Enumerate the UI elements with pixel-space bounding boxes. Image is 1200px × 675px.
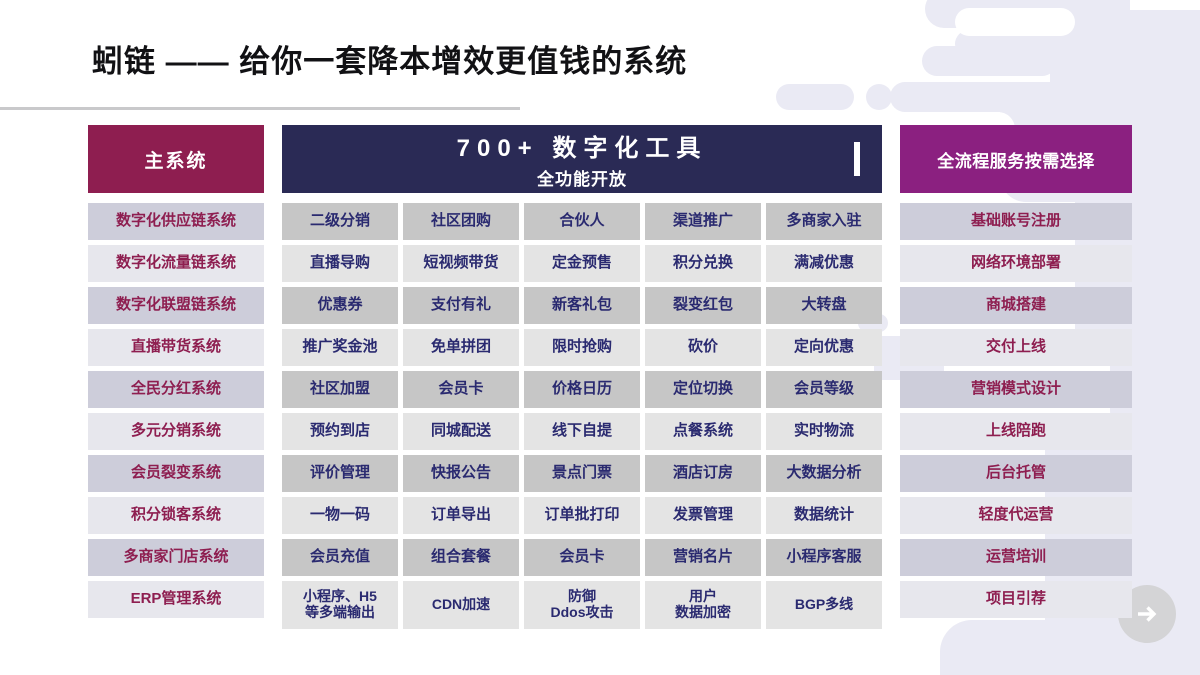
- tool-cell-cdn[interactable]: CDN加速: [403, 581, 519, 629]
- deco-dot: [866, 84, 892, 110]
- deco-shape-bottom-right-3: [1120, 430, 1200, 490]
- tool-cell[interactable]: 景点门票: [524, 455, 640, 492]
- service-item-mall-build[interactable]: 商城搭建: [900, 287, 1132, 324]
- tool-cell-encryption[interactable]: 用户 数据加密: [645, 581, 761, 629]
- tool-cell[interactable]: 订单批打印: [524, 497, 640, 534]
- slide-root: 蚓链 —— 给你一套降本增效更值钱的系统 主系统 数字化供应链系统 数字化流量链…: [0, 0, 1200, 675]
- center-header-accent-bar: [854, 142, 860, 176]
- deco-shape-top-right-3: [955, 30, 1200, 58]
- tool-cell[interactable]: 限时抢购: [524, 329, 640, 366]
- tool-cell[interactable]: 会员充值: [282, 539, 398, 576]
- deco-knockout-1: [955, 8, 1075, 36]
- tool-cell[interactable]: 预约到店: [282, 413, 398, 450]
- deco-shape-top-right-2: [925, 0, 1200, 28]
- left-column-header: 主系统: [88, 125, 264, 193]
- center-column-header: 700+ 数字化工具 全功能开放: [282, 125, 882, 193]
- title-divider: [0, 107, 520, 110]
- tool-cell[interactable]: 裂变红包: [645, 287, 761, 324]
- tool-cell-line1: BGP多线: [795, 597, 853, 613]
- tool-cell-ddos[interactable]: 防御 Ddos攻击: [524, 581, 640, 629]
- sidebar-item-distribution[interactable]: 多元分销系统: [88, 413, 264, 450]
- deco-shape-top-right-4: [1050, 44, 1200, 104]
- sidebar-item-supply-chain[interactable]: 数字化供应链系统: [88, 203, 264, 240]
- sidebar-item-dividend[interactable]: 全民分红系统: [88, 371, 264, 408]
- tool-cell[interactable]: 社区团购: [403, 203, 519, 240]
- service-item-account-register[interactable]: 基础账号注册: [900, 203, 1132, 240]
- tool-cell[interactable]: 短视频带货: [403, 245, 519, 282]
- service-item-backend-hosting[interactable]: 后台托管: [900, 455, 1132, 492]
- deco-pill-left: [776, 84, 854, 110]
- tool-cell[interactable]: 新客礼包: [524, 287, 640, 324]
- tool-cell[interactable]: 大数据分析: [766, 455, 882, 492]
- tool-cell[interactable]: 实时物流: [766, 413, 882, 450]
- tools-grid-last-row: 小程序、H5 等多端输出 CDN加速 防御 Ddos攻击: [282, 581, 882, 629]
- tool-cell[interactable]: 发票管理: [645, 497, 761, 534]
- tool-cell[interactable]: 大转盘: [766, 287, 882, 324]
- tool-cell-line1: 防御: [551, 589, 614, 605]
- tool-cell-line2: Ddos攻击: [551, 605, 614, 621]
- tool-cell[interactable]: 多商家入驻: [766, 203, 882, 240]
- center-header-line2: 全功能开放: [537, 165, 627, 190]
- tool-cell[interactable]: 价格日历: [524, 371, 640, 408]
- tool-cell[interactable]: 砍价: [645, 329, 761, 366]
- tool-cell[interactable]: 一物一码: [282, 497, 398, 534]
- tool-cell[interactable]: 渠道推广: [645, 203, 761, 240]
- service-item-network-deploy[interactable]: 网络环境部署: [900, 245, 1132, 282]
- tool-cell[interactable]: 快报公告: [403, 455, 519, 492]
- sidebar-item-points-lock[interactable]: 积分锁客系统: [88, 497, 264, 534]
- tool-cell-line1: 用户: [675, 589, 731, 605]
- service-item-marketing-design[interactable]: 营销模式设计: [900, 371, 1132, 408]
- deco-shape-top-right-1: [1015, 0, 1200, 62]
- tool-cell[interactable]: 酒店订房: [645, 455, 761, 492]
- tool-cell[interactable]: 支付有礼: [403, 287, 519, 324]
- deco-shape-top-right-6: [890, 82, 1030, 112]
- tool-cell[interactable]: 免单拼团: [403, 329, 519, 366]
- right-column: 全流程服务按需选择 基础账号注册 网络环境部署 商城搭建 交付上线 营销模式设计…: [900, 125, 1132, 623]
- sidebar-item-traffic-chain[interactable]: 数字化流量链系统: [88, 245, 264, 282]
- tool-cell[interactable]: 定向优惠: [766, 329, 882, 366]
- tool-cell[interactable]: 订单导出: [403, 497, 519, 534]
- tool-cell-line2: 等多端输出: [303, 605, 377, 621]
- sidebar-item-member-fission[interactable]: 会员裂变系统: [88, 455, 264, 492]
- service-item-launch-support[interactable]: 上线陪跑: [900, 413, 1132, 450]
- tool-cell[interactable]: 点餐系统: [645, 413, 761, 450]
- left-column: 主系统 数字化供应链系统 数字化流量链系统 数字化联盟链系统 直播带货系统 全民…: [88, 125, 264, 623]
- tool-cell[interactable]: 合伙人: [524, 203, 640, 240]
- tool-cell[interactable]: 会员卡: [524, 539, 640, 576]
- center-column: 700+ 数字化工具 全功能开放 二级分销 社区团购 合伙人 渠道推广 多商家入…: [282, 125, 882, 629]
- service-item-operation-train[interactable]: 运营培训: [900, 539, 1132, 576]
- tool-cell-line2: 数据加密: [675, 605, 731, 621]
- tool-cell[interactable]: 会员卡: [403, 371, 519, 408]
- tool-cell[interactable]: 会员等级: [766, 371, 882, 408]
- tool-cell[interactable]: 组合套餐: [403, 539, 519, 576]
- tool-cell[interactable]: 积分兑换: [645, 245, 761, 282]
- sidebar-item-alliance-chain[interactable]: 数字化联盟链系统: [88, 287, 264, 324]
- service-item-delivery-launch[interactable]: 交付上线: [900, 329, 1132, 366]
- tool-cell[interactable]: 线下自提: [524, 413, 640, 450]
- service-item-light-operation[interactable]: 轻度代运营: [900, 497, 1132, 534]
- tool-cell-line1: CDN加速: [432, 597, 490, 613]
- right-column-header: 全流程服务按需选择: [900, 125, 1132, 193]
- sidebar-item-live-commerce[interactable]: 直播带货系统: [88, 329, 264, 366]
- tool-cell[interactable]: 小程序客服: [766, 539, 882, 576]
- deco-shape-top-right-5: [922, 46, 1057, 76]
- tool-cell-line1: 小程序、H5: [303, 589, 377, 605]
- tool-cell-multiend[interactable]: 小程序、H5 等多端输出: [282, 581, 398, 629]
- tool-cell[interactable]: 二级分销: [282, 203, 398, 240]
- page-title: 蚓链 —— 给你一套降本增效更值钱的系统: [92, 36, 687, 81]
- tool-cell-bgp[interactable]: BGP多线: [766, 581, 882, 629]
- center-header-line1: 700+ 数字化工具: [457, 128, 708, 163]
- tool-cell[interactable]: 数据统计: [766, 497, 882, 534]
- tool-cell[interactable]: 定位切换: [645, 371, 761, 408]
- service-item-project-referral[interactable]: 项目引荐: [900, 581, 1132, 618]
- tool-cell[interactable]: 推广奖金池: [282, 329, 398, 366]
- sidebar-item-erp[interactable]: ERP管理系统: [88, 581, 264, 618]
- tool-cell[interactable]: 直播导购: [282, 245, 398, 282]
- tool-cell[interactable]: 营销名片: [645, 539, 761, 576]
- tool-cell[interactable]: 优惠券: [282, 287, 398, 324]
- content-board: 主系统 数字化供应链系统 数字化流量链系统 数字化联盟链系统 直播带货系统 全民…: [88, 125, 1132, 629]
- tool-cell[interactable]: 定金预售: [524, 245, 640, 282]
- tool-cell[interactable]: 同城配送: [403, 413, 519, 450]
- right-column-list: 基础账号注册 网络环境部署 商城搭建 交付上线 营销模式设计 上线陪跑 后台托管…: [900, 203, 1132, 618]
- left-column-list: 数字化供应链系统 数字化流量链系统 数字化联盟链系统 直播带货系统 全民分红系统…: [88, 203, 264, 618]
- sidebar-item-multi-store[interactable]: 多商家门店系统: [88, 539, 264, 576]
- tool-cell[interactable]: 满减优惠: [766, 245, 882, 282]
- tools-grid: 二级分销 社区团购 合伙人 渠道推广 多商家入驻 直播导购 短视频带货 定金预售…: [282, 203, 882, 576]
- deco-knockout-2: [1130, 0, 1200, 10]
- tool-cell[interactable]: 社区加盟: [282, 371, 398, 408]
- tool-cell[interactable]: 评价管理: [282, 455, 398, 492]
